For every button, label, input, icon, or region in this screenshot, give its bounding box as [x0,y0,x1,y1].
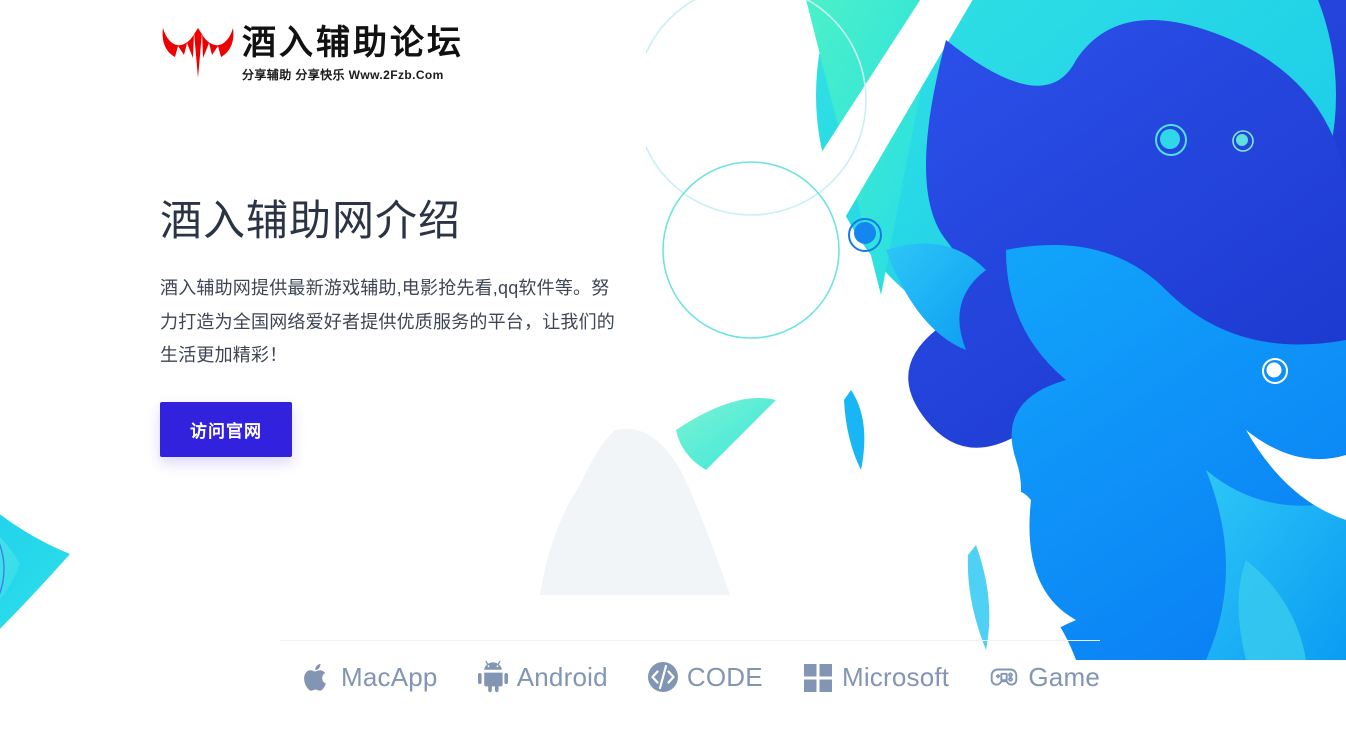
shape-mint-wedge [796,0,946,295]
logo-title: 酒入辅助论坛 [242,26,464,62]
code-brackets-icon [646,660,680,694]
shape-sky-sliver-b [968,545,990,650]
dot-marker-cyan-large [1156,125,1186,155]
shape-cyan-tail [1239,560,1307,660]
page-title: 酒入辅助网介绍 [160,196,630,246]
platform-item-code[interactable]: CODE [646,660,763,694]
logo-tagline: 分享辅助 分享快乐 Www.2Fzb.Com [242,66,464,83]
gamepad-icon [987,660,1021,694]
decorative-artwork-left [0,409,180,669]
platform-label: Game [1028,662,1100,693]
dot-marker-cyan-small [1233,131,1253,151]
platform-item-game[interactable]: Game [987,660,1100,694]
landing-page: 酒入辅助论坛 分享辅助 分享快乐 Www.2Fzb.Com 酒入辅助网介绍 酒入… [0,0,1346,729]
section-divider [280,640,1100,641]
platform-label: CODE [687,662,763,693]
site-logo[interactable]: 酒入辅助论坛 分享辅助 分享快乐 Www.2Fzb.Com [160,22,464,83]
shape-white-spike-b [968,490,1076,660]
dot-marker-white [1263,359,1287,383]
platform-label: MacApp [341,662,438,693]
ring-outline-large [646,0,866,215]
platform-label: Microsoft [842,662,949,693]
shape-left-blob-soft [0,504,20,650]
shape-cyan-circle [816,0,1336,355]
hero-description: 酒入辅助网提供最新游戏辅助,电影抢先看,qq软件等。努力打造为全国网络爱好者提供… [160,272,616,372]
shape-azure-body [976,245,1346,660]
shape-sky-sliver [844,390,864,470]
dot-marker-blue-solid [849,219,881,251]
bull-horns-logo-icon [160,22,236,80]
shape-royal-blue [953,0,1346,330]
visit-official-site-button[interactable]: 访问官网 [160,402,292,457]
shape-sky-fin-b [1206,470,1346,660]
platform-item-microsoft[interactable]: Microsoft [801,660,949,694]
ring-outline-medium [663,162,839,338]
android-icon [476,660,510,694]
decorative-artwork-right [646,0,1346,660]
platform-item-android[interactable]: Android [476,660,608,694]
windows-squares-icon [801,660,835,694]
shape-white-spike-c [1246,430,1346,520]
apple-icon [300,660,334,694]
platform-label: Android [517,662,608,693]
platform-list: MacApp Android COD [300,660,1100,694]
hero-section: 酒入辅助网介绍 酒入辅助网提供最新游戏辅助,电影抢先看,qq软件等。努力打造为全… [160,196,630,457]
platform-item-macapp[interactable]: MacApp [300,660,438,694]
shape-white-spike-a [834,322,946,600]
shape-royal-starburst [908,20,1346,460]
shape-white-slash [781,0,996,250]
ring-left-outline [0,497,4,641]
shape-mint-sliver-a [676,398,776,470]
shape-left-blob [0,456,70,669]
shape-sky-fin-a [886,243,986,350]
